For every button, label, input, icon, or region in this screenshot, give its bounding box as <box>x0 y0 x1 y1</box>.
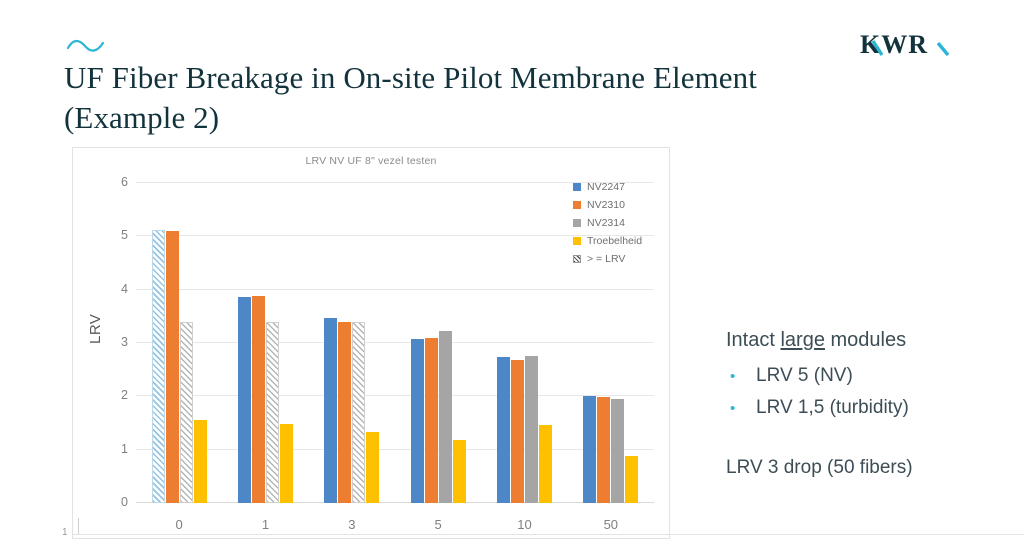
guide-line-vertical <box>78 518 79 534</box>
bullet-marker-icon: • <box>730 393 756 424</box>
bar <box>324 318 337 503</box>
legend-label: Troebelheid <box>587 235 642 247</box>
notes-tail: LRV 3 drop (50 fibers) <box>726 454 996 482</box>
notes-block: Intact large modules •LRV 5 (NV)•LRV 1,5… <box>726 326 996 482</box>
legend-item: NV2247 <box>573 178 642 196</box>
legend-swatch-icon <box>573 183 581 191</box>
y-axis-tick: 1 <box>121 442 128 456</box>
bar-group: 3 <box>309 183 395 503</box>
bar <box>611 399 624 503</box>
notes-heading-before: Intact <box>726 329 780 351</box>
bar <box>266 322 279 503</box>
bar <box>352 322 365 503</box>
notes-bullet-list: •LRV 5 (NV)•LRV 1,5 (turbidity) <box>726 360 996 424</box>
bar <box>366 432 379 503</box>
y-axis-tick: 0 <box>121 495 128 509</box>
x-axis-tick: 3 <box>309 517 395 532</box>
bar <box>439 331 452 503</box>
legend-label: > = LRV <box>587 253 625 265</box>
bar <box>625 456 638 503</box>
legend-swatch-icon <box>573 237 581 245</box>
x-axis-tick: 5 <box>395 517 481 532</box>
legend-swatch-icon <box>573 255 581 263</box>
bar <box>539 425 552 503</box>
bar-group: 5 <box>395 183 481 503</box>
bar-group: 1 <box>222 183 308 503</box>
bullet-item: •LRV 1,5 (turbidity) <box>726 392 996 424</box>
bar <box>238 297 251 503</box>
bar <box>511 360 524 503</box>
bar <box>597 397 610 503</box>
bar <box>252 296 265 503</box>
notes-heading: Intact large modules <box>726 326 996 354</box>
y-axis-tick: 2 <box>121 388 128 402</box>
legend-label: NV2310 <box>587 199 625 211</box>
chart-panel: LRV NV UF 8" vezel testen LRV 0123456 01… <box>72 147 670 539</box>
y-axis-tick: 4 <box>121 282 128 296</box>
bullet-marker-icon: • <box>730 361 756 392</box>
page-title: UF Fiber Breakage in On-site Pilot Membr… <box>64 58 884 138</box>
wave-decoration-icon <box>66 38 106 54</box>
bar-group: 0 <box>136 183 222 503</box>
bullet-text: LRV 1,5 (turbidity) <box>756 392 909 423</box>
x-axis-tick: 1 <box>222 517 308 532</box>
slide-number: 1 <box>62 527 68 538</box>
legend-item: Troebelheid <box>573 232 642 250</box>
y-axis-tick: 6 <box>121 175 128 189</box>
bar <box>180 322 193 503</box>
legend-swatch-icon <box>573 219 581 227</box>
legend-item: > = LRV <box>573 250 642 268</box>
bar <box>425 338 438 503</box>
x-axis-tick: 50 <box>568 517 654 532</box>
bar <box>166 231 179 503</box>
legend-label: NV2247 <box>587 181 625 193</box>
x-axis-tick: 0 <box>136 517 222 532</box>
chart-legend: NV2247NV2310NV2314Troebelheid> = LRV <box>573 178 642 268</box>
bar <box>453 440 466 503</box>
bar <box>194 420 207 503</box>
bar <box>497 357 510 503</box>
bar <box>152 230 165 503</box>
guide-line-horizontal <box>72 534 1024 535</box>
bullet-text: LRV 5 (NV) <box>756 360 853 391</box>
x-axis-tick: 10 <box>481 517 567 532</box>
bar-group: 10 <box>481 183 567 503</box>
svg-text:KWR: KWR <box>860 30 928 59</box>
legend-swatch-icon <box>573 201 581 209</box>
y-axis-tick: 3 <box>121 335 128 349</box>
bar <box>280 424 293 503</box>
y-axis-tick: 5 <box>121 228 128 242</box>
legend-label: NV2314 <box>587 217 625 229</box>
notes-heading-underlined: large <box>780 329 824 351</box>
bar <box>525 356 538 503</box>
bullet-item: •LRV 5 (NV) <box>726 360 996 392</box>
legend-item: NV2310 <box>573 196 642 214</box>
bar <box>583 396 596 503</box>
legend-item: NV2314 <box>573 214 642 232</box>
bar <box>338 322 351 503</box>
kwr-logo: KWR <box>860 28 956 62</box>
chart-title: LRV NV UF 8" vezel testen <box>73 155 669 167</box>
y-axis-title: LRV <box>87 314 104 344</box>
bar <box>411 339 424 503</box>
notes-heading-after: modules <box>825 329 906 351</box>
